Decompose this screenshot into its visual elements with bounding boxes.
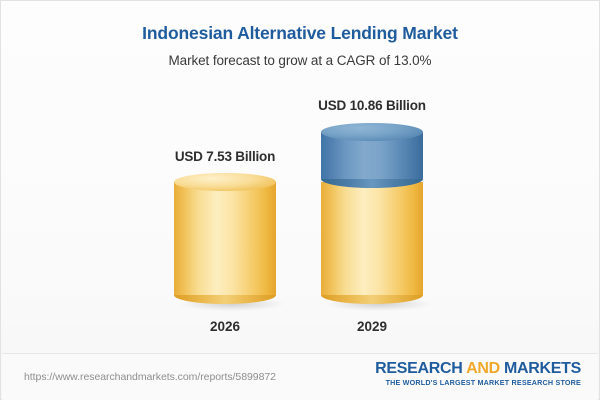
value-label-2026: USD 7.53 Billion [114,149,336,164]
cylinder-top-cap [174,173,276,191]
brand-tagline: THE WORLD'S LARGEST MARKET RESEARCH STOR… [375,378,581,388]
brand-name-and: AND [466,360,500,377]
value-label-2029: USD 10.86 Billion [261,98,483,113]
brand-name-last: MARKETS [500,360,581,377]
brand-logo[interactable]: RESEARCH AND MARKETS THE WORLD'S LARGEST… [375,360,581,388]
plot-area: USD 7.53 Billion 2026 USD 10.86 Billion [1,1,600,353]
axis-label-2029: 2029 [261,319,483,334]
brand-name: RESEARCH AND MARKETS [375,360,581,378]
brand-name-first: RESEARCH [375,360,466,377]
bar-segment-2029-growth [321,123,423,188]
bar-segment-2029-base [321,173,423,304]
cylinder-body [174,182,276,295]
chart-card: Indonesian Alternative Lending Market Ma… [0,0,600,400]
source-url-link[interactable]: https://www.researchandmarkets.com/repor… [24,371,276,383]
cylinder-top-cap [321,123,423,141]
footer: https://www.researchandmarkets.com/repor… [2,353,598,400]
cylinder-body [321,182,423,295]
bar-segment-2026-base [174,173,276,304]
